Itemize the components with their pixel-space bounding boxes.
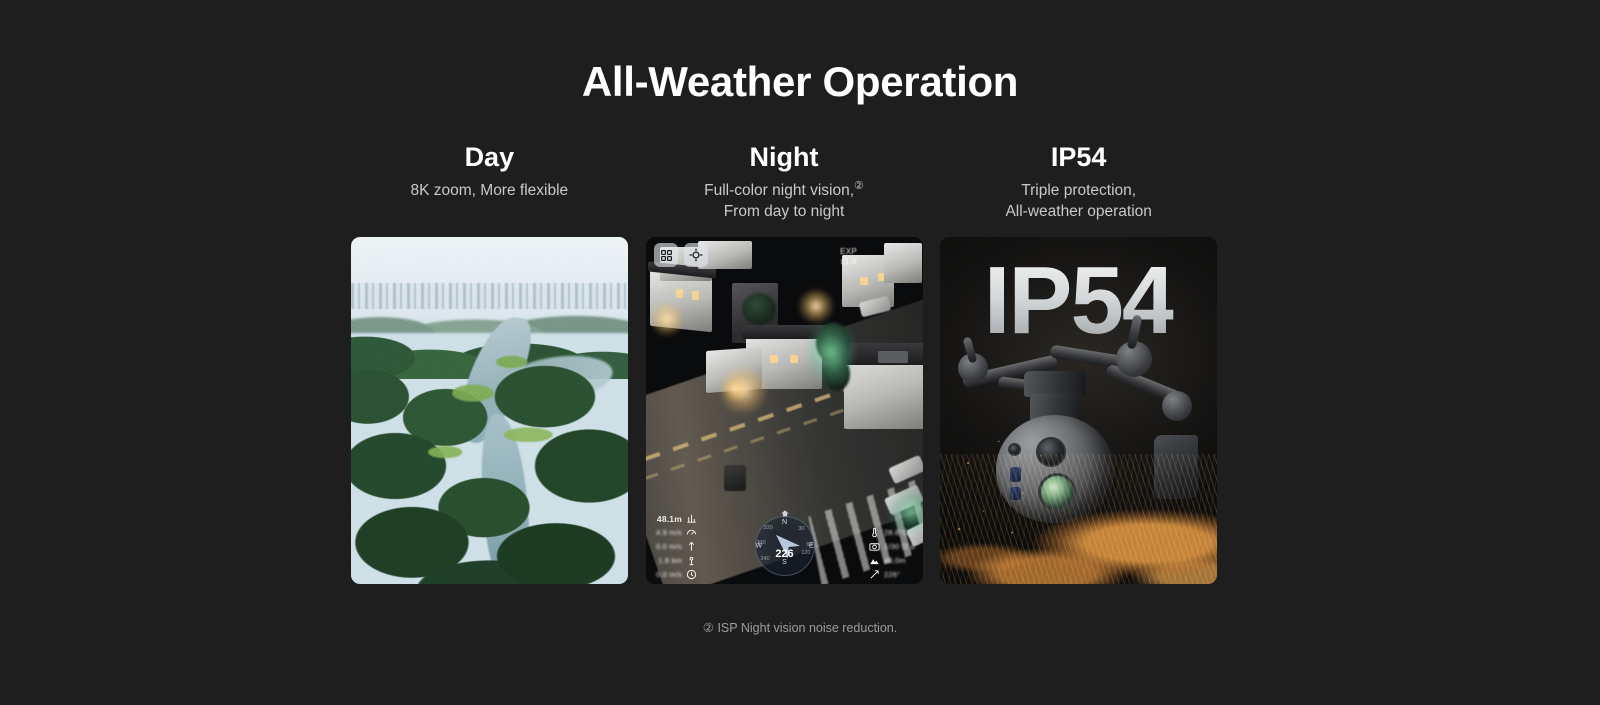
hud-exposure-readout: EXP x1.0 — [840, 247, 857, 267]
hud-readout: 1/30 f2.8 — [869, 541, 915, 552]
lit-window — [860, 277, 868, 285]
altitude-icon — [686, 513, 697, 524]
lit-window — [676, 289, 683, 298]
hud-exposure-label: EXP — [840, 247, 857, 257]
footnote-marker-night: ② — [854, 180, 864, 192]
headlight-glow — [722, 377, 748, 401]
column-title-ip54: IP54 — [1051, 140, 1107, 174]
column-subtitle-night-line1: Full-color night vision, — [704, 182, 854, 199]
column-subtitle-night: Full-color night vision,② From day to ni… — [704, 180, 864, 222]
image-card-night: EXP x1.0 48.1m 4.9 m/s — [646, 237, 923, 584]
column-subtitle-day: 8K zoom, More flexible — [411, 180, 569, 201]
image-card-ip54: IP54 — [940, 237, 1217, 584]
all-weather-operation-section: All-Weather Operation Day 8K zoom, More … — [0, 0, 1600, 705]
ip54-product-photo: IP54 — [940, 237, 1217, 584]
building — [884, 243, 922, 283]
page-title: All-Weather Operation — [0, 58, 1600, 106]
hud-readout: 0.0 m/s — [656, 569, 697, 580]
feature-column-headers: Day 8K zoom, More flexible Night Full-co… — [351, 140, 1217, 222]
street-light-glow — [652, 299, 682, 339]
thermometer-icon — [869, 527, 880, 538]
distance-icon — [686, 555, 697, 566]
column-subtitle-day-line1: 8K zoom, More flexible — [411, 182, 569, 199]
hud-readout: 48.1m — [657, 513, 697, 524]
compass-tick: 60 — [806, 542, 812, 548]
hud-readout: 1.8 km — [658, 555, 697, 566]
hud-button-group[interactable] — [654, 243, 708, 267]
dust-particles — [946, 427, 1056, 547]
hud-readout: 0.0 m/s — [656, 541, 697, 552]
heading-icon — [869, 569, 880, 580]
wind-icon — [686, 569, 697, 580]
night-aerial-photo: EXP x1.0 48.1m 4.9 m/s — [646, 237, 923, 584]
hud-mode-button[interactable] — [654, 243, 678, 267]
feature-column-night: Night Full-color night vision,② From day… — [646, 140, 923, 222]
hud-distance-value: 1.8 km — [658, 556, 682, 566]
hud-readout: 4.9 m/s — [656, 527, 697, 538]
hud-telemetry-bar: 48.1m 4.9 m/s 0.0 m/s — [646, 502, 923, 584]
column-subtitle-night-line2: From day to night — [724, 203, 845, 220]
photo-texture — [351, 237, 628, 584]
lit-window — [770, 355, 778, 363]
hud-readout: 28.8°C — [869, 527, 908, 538]
hud-zoom-label: x1.0 — [840, 257, 857, 267]
compass-tick: 240 — [761, 556, 770, 562]
feature-column-ip54: IP54 Triple protection, All-weather oper… — [940, 140, 1217, 222]
hud-readout: 226° — [869, 569, 900, 580]
target-icon — [689, 248, 703, 262]
feature-column-day: Day 8K zoom, More flexible — [351, 140, 628, 222]
tree — [742, 293, 776, 325]
column-subtitle-ip54-line1: Triple protection, — [1021, 182, 1136, 199]
hud-readout: 48.0m — [869, 555, 906, 566]
lit-window — [692, 291, 699, 300]
hud-heading-value: 226° — [884, 570, 900, 580]
column-title-day: Day — [465, 140, 515, 174]
column-title-night: Night — [750, 140, 819, 174]
column-subtitle-ip54: Triple protection, All-weather operation — [1005, 180, 1151, 222]
daytime-aerial-photo — [351, 237, 628, 584]
compass-tick: 120 — [801, 550, 810, 556]
rooftop-unit — [878, 351, 908, 363]
hud-speed-value: 4.9 m/s — [656, 528, 682, 538]
hud-right-readouts: 28.8°C 1/30 f2.8 48.0m — [869, 527, 915, 580]
hud-temperature-value: 28.8°C — [884, 528, 908, 538]
green-light-glow — [808, 313, 854, 393]
terrain-icon — [869, 555, 880, 566]
hud-compass: N S E W 30 60 120 240 300 330 226 — [749, 510, 821, 582]
vehicle-on-road — [724, 465, 746, 491]
camera-icon — [869, 541, 880, 552]
hud-terrain-value: 48.0m — [884, 556, 906, 566]
hud-vertical-speed-value: 0.0 m/s — [656, 542, 682, 552]
speed-icon — [686, 527, 697, 538]
hud-camera-value: 1/30 f2.8 — [884, 542, 915, 552]
compass-heading-value: 226 — [775, 548, 793, 560]
hud-left-readouts: 48.1m 4.9 m/s 0.0 m/s — [656, 513, 697, 580]
footnote: ② ISP Night vision noise reduction. — [0, 620, 1600, 635]
hud-target-button[interactable] — [684, 243, 708, 267]
grid-icon — [660, 249, 673, 262]
image-card-day — [351, 237, 628, 584]
hud-wind-value: 0.0 m/s — [656, 570, 682, 580]
hud-altitude-value: 48.1m — [657, 514, 682, 524]
motor-housing — [1162, 391, 1192, 421]
lit-window — [790, 355, 798, 363]
vertical-speed-icon — [686, 541, 697, 552]
column-subtitle-ip54-line2: All-weather operation — [1005, 203, 1151, 220]
